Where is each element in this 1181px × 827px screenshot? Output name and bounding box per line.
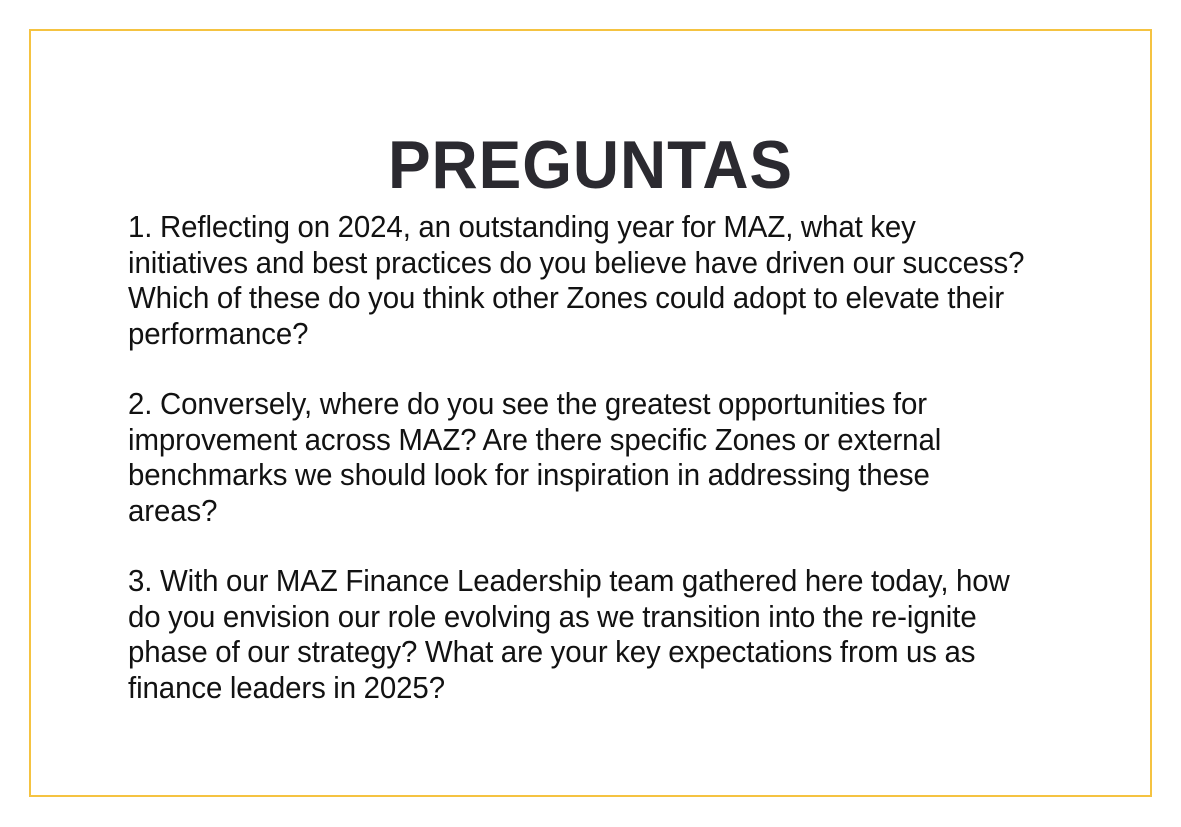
question-item-3: 3. With our MAZ Finance Leadership team … bbox=[128, 564, 1025, 706]
question-item-1: 1. Reflecting on 2024, an outstanding ye… bbox=[128, 210, 1025, 352]
questions-list: 1. Reflecting on 2024, an outstanding ye… bbox=[128, 210, 1058, 706]
page-title: PREGUNTAS bbox=[63, 131, 1119, 199]
presentation-slide: PREGUNTAS 1. Reflecting on 2024, an outs… bbox=[0, 0, 1181, 827]
question-item-2: 2. Conversely, where do you see the grea… bbox=[128, 387, 1025, 529]
slide-content-area: PREGUNTAS 1. Reflecting on 2024, an outs… bbox=[29, 29, 1152, 797]
